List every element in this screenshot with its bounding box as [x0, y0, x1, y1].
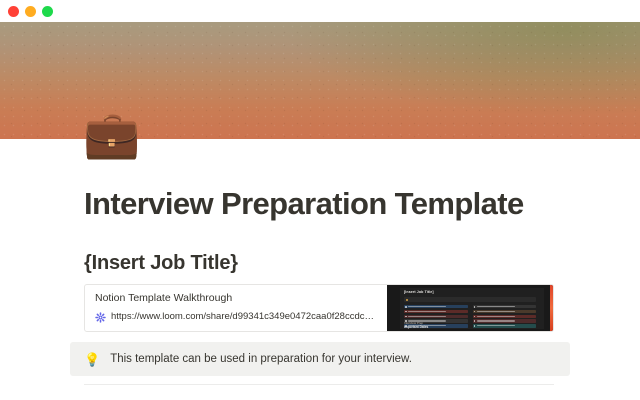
bookmark-url-row: https://www.loom.com/share/d99341c349e04… — [95, 311, 377, 323]
callout-block[interactable]: 💡 This template can be used in preparati… — [70, 342, 570, 376]
page-icon-briefcase-icon[interactable]: 💼 — [83, 111, 140, 157]
thumbnail-callout — [404, 297, 536, 302]
window-titlebar — [0, 0, 640, 22]
bookmark-card[interactable]: Notion Template Walkthrough — [84, 284, 554, 332]
thumbnail-row — [473, 310, 537, 313]
thumbnail-heading: [Insert Job Title] — [404, 290, 434, 294]
thumbnail-row — [473, 305, 537, 308]
thumbnail-row — [473, 315, 537, 318]
job-title-heading: {Insert Job Title} — [84, 252, 238, 275]
bookmark-url: https://www.loom.com/share/d99341c349e04… — [111, 311, 377, 323]
bookmark-info: Notion Template Walkthrough — [85, 285, 387, 331]
bookmark-title: Notion Template Walkthrough — [95, 291, 377, 305]
app-window: 💼 Interview Preparation Template {Insert… — [0, 0, 640, 400]
loom-favicon-icon — [95, 312, 106, 323]
minimize-window-icon[interactable] — [25, 6, 36, 17]
thumbnail-accent-stripe — [550, 285, 553, 331]
callout-text: This template can be used in preparation… — [110, 351, 412, 367]
thumbnail-column-right — [473, 305, 537, 328]
thumbnail-row — [404, 310, 468, 313]
thumbnail-row — [473, 319, 537, 322]
thumbnail-row — [404, 305, 468, 308]
thumbnail-footer-bold: Important Dates — [404, 325, 428, 329]
maximize-window-icon[interactable] — [42, 6, 53, 17]
thumbnail-row — [404, 315, 468, 318]
lightbulb-icon: 💡 — [84, 353, 100, 366]
close-window-icon[interactable] — [8, 6, 19, 17]
thumbnail-content: [Insert Job Title] — [400, 288, 544, 329]
thumbnail-row — [473, 324, 537, 327]
content-divider — [84, 384, 554, 385]
bookmark-thumbnail: [Insert Job Title] — [387, 285, 553, 331]
page-title: Interview Preparation Template — [84, 186, 524, 222]
